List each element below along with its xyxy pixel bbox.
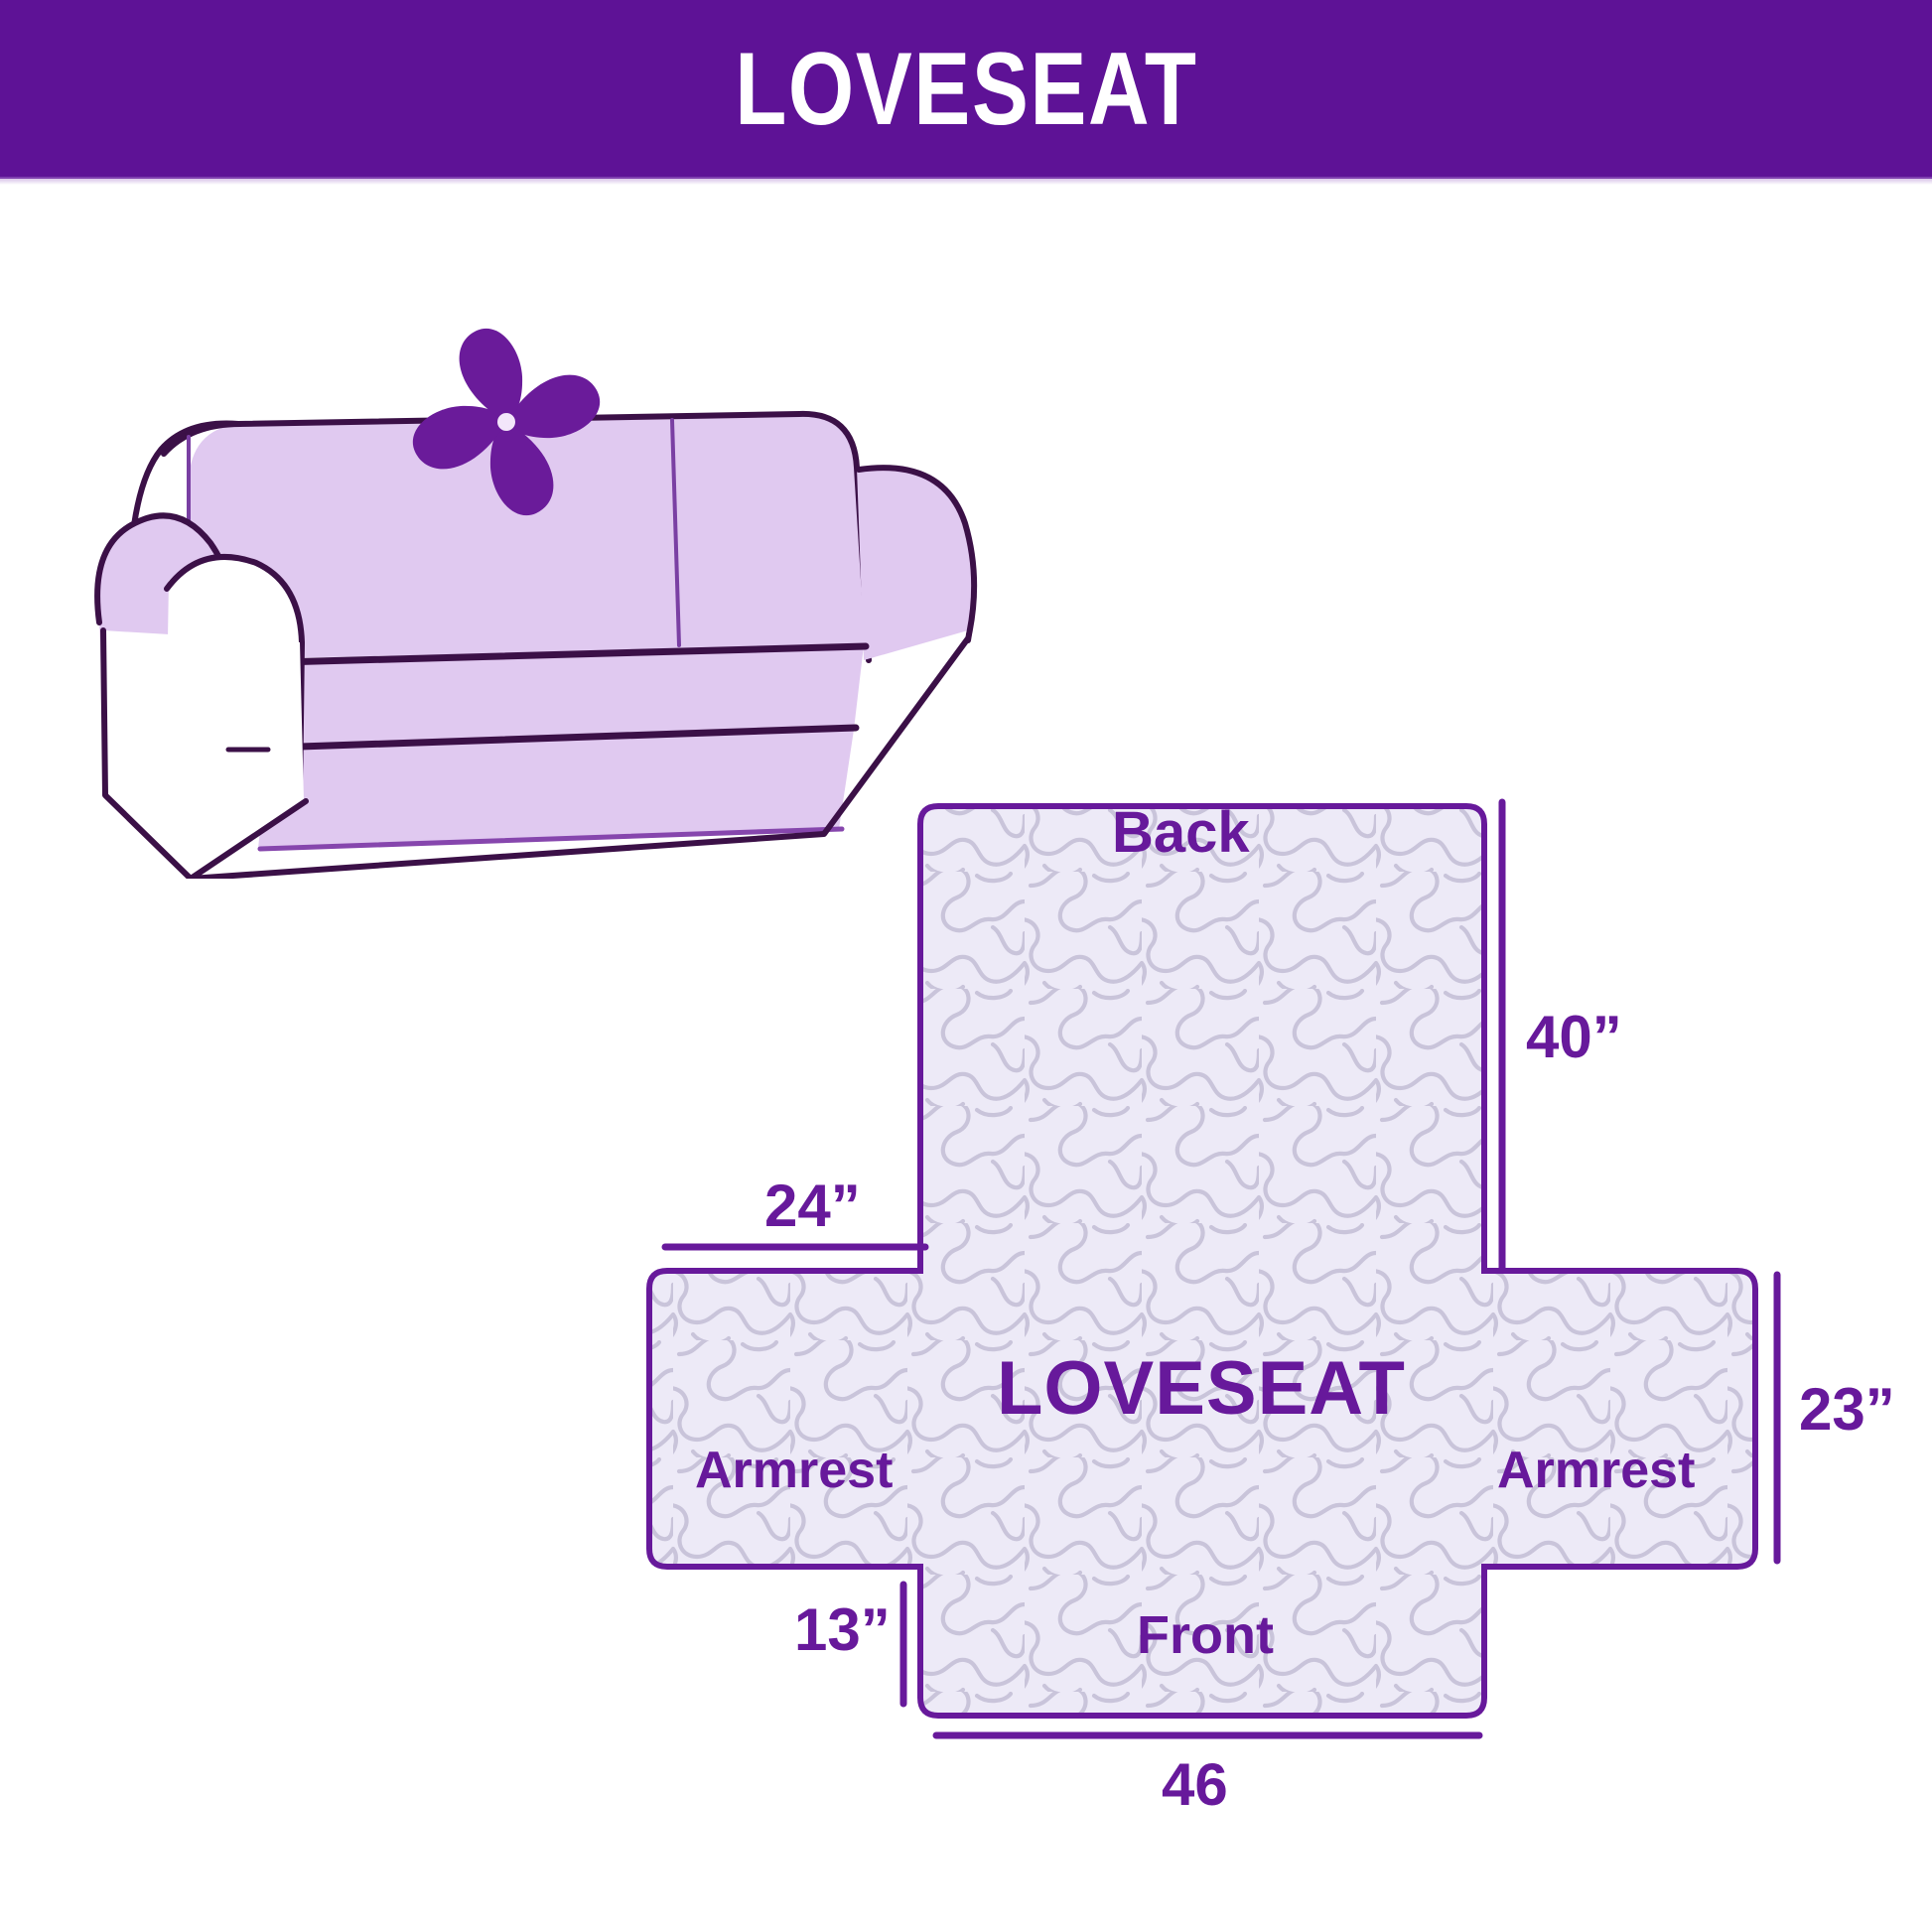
page-title: LOVESEAT — [735, 38, 1197, 141]
dimension-label-armrest-height: 23” — [1799, 1380, 1895, 1440]
dimension-label-front-height: 13” — [794, 1600, 891, 1660]
page-root: LOVESEAT — [0, 0, 1932, 1932]
page-header-banner: LOVESEAT — [0, 0, 1932, 179]
panel-label-armrest-right: Armrest — [1497, 1445, 1695, 1496]
banner-shadow — [0, 177, 1932, 185]
cross-panel-shape — [649, 806, 1755, 1716]
dimension-label-front-width: 46 — [1162, 1755, 1228, 1815]
slipcover-pattern-diagram — [556, 755, 1932, 1876]
panel-label-center: LOVESEAT — [997, 1351, 1406, 1427]
panel-label-armrest-left: Armrest — [695, 1445, 893, 1496]
panel-label-front: Front — [1137, 1608, 1274, 1662]
panel-label-back: Back — [1112, 804, 1250, 862]
dimension-label-back-height: 40” — [1526, 1008, 1622, 1067]
dimension-label-back-offset: 24” — [764, 1176, 861, 1236]
